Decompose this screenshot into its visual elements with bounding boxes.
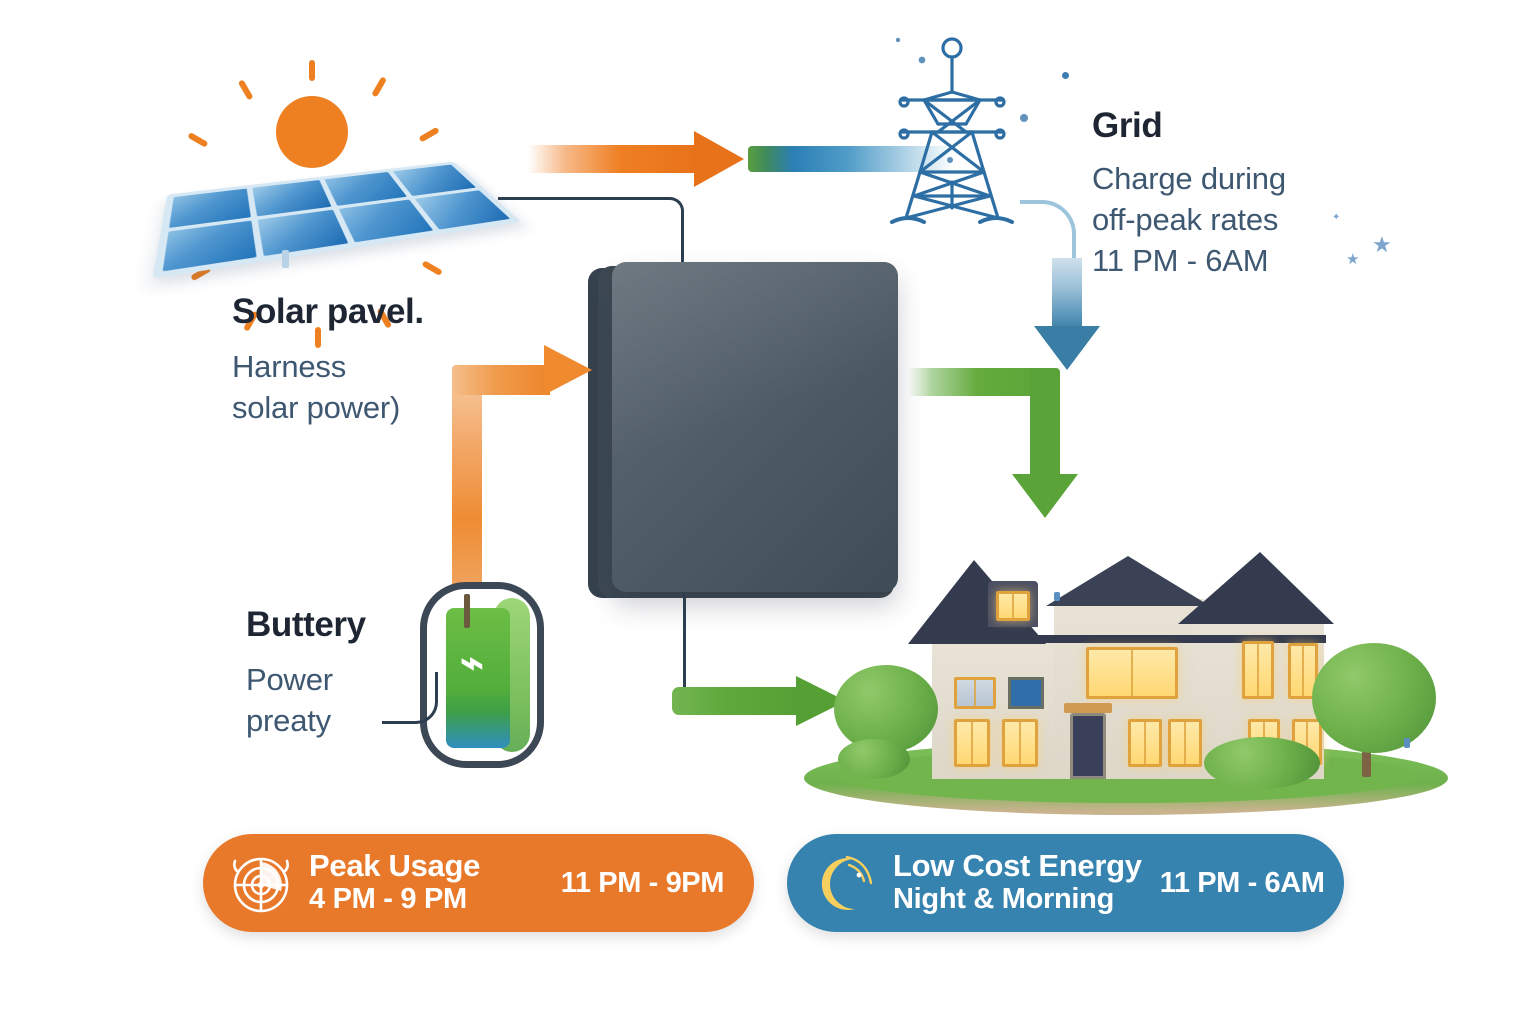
- window-lower-center-b: [1168, 719, 1202, 767]
- window-lower-center-a: [1128, 719, 1162, 767]
- solar-label-group: Solar pavel. Harness solar power): [232, 292, 424, 428]
- window-lower-left-b: [1002, 719, 1038, 767]
- grid-desc-line3: 11 PM - 6AM: [1092, 240, 1286, 281]
- grid-label-group: Grid Charge during off-peak rates 11 PM …: [1092, 106, 1286, 282]
- transmission-tower-icon: [862, 32, 1042, 252]
- sparkle-icon: ✦: [1332, 212, 1340, 223]
- grid-desc-line1: Charge during: [1092, 158, 1286, 199]
- battery-to-unit-arrow: [452, 355, 600, 605]
- star-icon: ★: [1346, 250, 1359, 268]
- badge-low-subtitle: Night & Morning: [893, 883, 1142, 915]
- battery-desc-line2: preaty: [246, 700, 366, 741]
- solar-title: Solar pavel.: [232, 292, 424, 332]
- badge-peak-usage[interactable]: Peak Usage 4 PM - 9 PM 11 PM - 9PM: [203, 834, 754, 932]
- dormer-window: [996, 591, 1030, 621]
- badge-low-time: 11 PM - 6AM: [1142, 867, 1325, 900]
- solar-desc-line1: Harness: [232, 346, 424, 387]
- house-door: [1070, 713, 1106, 779]
- window-right-upper-a: [1242, 641, 1274, 699]
- solar-to-unit-wire: [498, 197, 684, 269]
- solar-panel-icon: [170, 140, 500, 275]
- solar-to-grid-arrow: [528, 131, 744, 187]
- window-center-large: [1086, 647, 1178, 699]
- badge-low-title: Low Cost Energy: [893, 850, 1142, 883]
- bush-center: [1204, 737, 1320, 789]
- tree-canopy-right: [1312, 643, 1436, 753]
- battery-desc-line1: Power: [246, 659, 366, 700]
- moon-icon: [809, 847, 881, 919]
- unit-to-house-arrow: [908, 368, 1088, 528]
- house-right-roof: [1178, 549, 1334, 624]
- badge-low-cost-energy[interactable]: Low Cost Energy Night & Morning 11 PM - …: [787, 834, 1344, 932]
- window-upper-left-b: [1008, 677, 1044, 709]
- battery-label-group: Buttery Power preaty: [246, 605, 366, 741]
- grid-title: Grid: [1092, 106, 1286, 146]
- solar-desc-line2: solar power): [232, 387, 424, 428]
- house-illustration: [796, 525, 1456, 815]
- bush-left: [838, 739, 910, 779]
- speck-icon: [1404, 738, 1410, 748]
- grid-to-house-arrow: [1020, 200, 1084, 370]
- window-upper-left-a: [954, 677, 996, 709]
- badge-peak-title: Peak Usage: [309, 850, 480, 883]
- speck-icon: [1054, 592, 1060, 601]
- gauge-meter-icon: [225, 847, 297, 919]
- badge-peak-subtitle: 4 PM - 9 PM: [309, 883, 480, 915]
- battery-title: Buttery: [246, 605, 366, 645]
- speck-icon: [1062, 72, 1069, 79]
- grid-desc-line2: off-peak rates: [1092, 199, 1286, 240]
- solar-panel-leg: [282, 250, 289, 268]
- energy-flow-infographic: Solar pavel. Harness solar power): [0, 0, 1536, 1024]
- battery-text-connector: [382, 672, 438, 724]
- badge-peak-time: 11 PM - 9PM: [543, 867, 724, 900]
- house-door-frame: [1064, 703, 1112, 713]
- battery-icon: ⌁: [420, 582, 544, 768]
- window-lower-left-a: [954, 719, 990, 767]
- star-icon: ★: [1372, 232, 1392, 258]
